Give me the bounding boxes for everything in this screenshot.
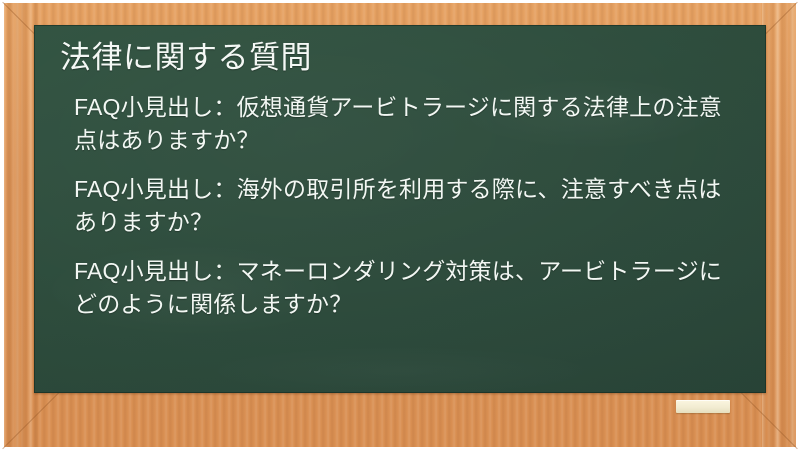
frame-miter-bottom-right <box>738 389 796 447</box>
faq-list-item: FAQ小見出し：海外の取引所を利用する際に、注意すべき点はありますか？ <box>74 173 734 239</box>
chalk-stick-icon <box>676 400 730 413</box>
faq-list: FAQ小見出し：仮想通貨アービトラージに関する法律上の注意点はありますか？ FA… <box>56 91 744 322</box>
faq-list-item: FAQ小見出し：マネーロンダリング対策は、アービトラージにどのように関係しますか… <box>74 255 734 321</box>
frame-miter-bottom-left <box>4 389 62 447</box>
chalkboard-surface: 法律に関する質問 FAQ小見出し：仮想通貨アービトラージに関する法律上の注意点は… <box>34 25 766 393</box>
page-title: 法律に関する質問 <box>60 39 744 77</box>
chalkboard-assembly: 法律に関する質問 FAQ小見出し：仮想通貨アービトラージに関する法律上の注意点は… <box>4 3 796 447</box>
board-content: 法律に関する質問 FAQ小見出し：仮想通貨アービトラージに関する法律上の注意点は… <box>34 25 766 393</box>
frame-grain-right-rail <box>762 3 796 447</box>
frame-grain-left-rail <box>4 3 38 447</box>
faq-list-item: FAQ小見出し：仮想通貨アービトラージに関する法律上の注意点はありますか？ <box>74 91 734 157</box>
slide-canvas: 法律に関する質問 FAQ小見出し：仮想通貨アービトラージに関する法律上の注意点は… <box>0 0 800 450</box>
